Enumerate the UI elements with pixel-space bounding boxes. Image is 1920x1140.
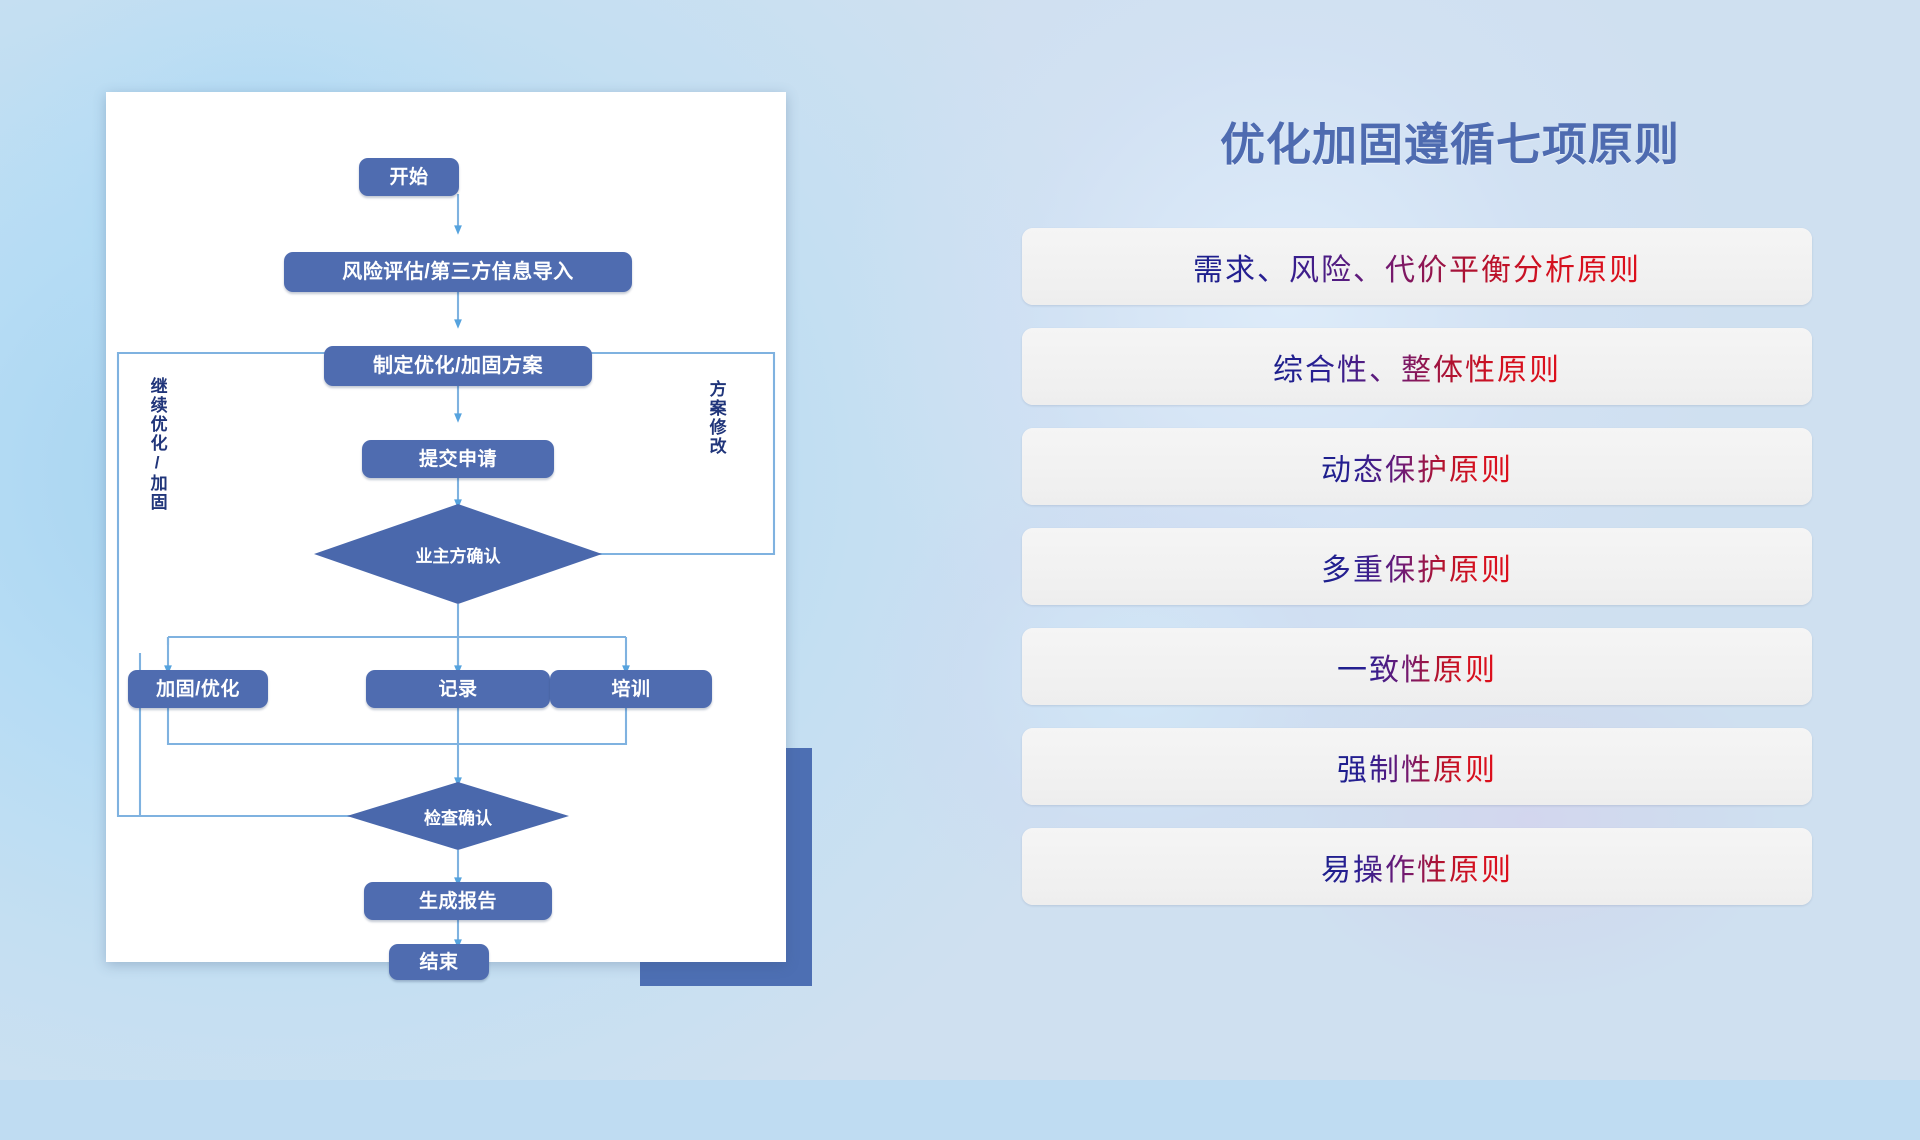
principles-title: 优化加固遵循七项原则	[1030, 108, 1870, 173]
principle-label: 易操作性原则	[1321, 845, 1513, 889]
principle-label: 需求、风险、代价平衡分析原则	[1193, 245, 1641, 289]
principle-label: 动态保护原则	[1321, 445, 1513, 489]
principle-label: 多重保护原则	[1321, 545, 1513, 589]
flowchart-panel: 开始 风险评估/第三方信息导入 制定优化/加固方案 提交申请 业主方确认 加固/…	[106, 92, 786, 962]
flow-node-plan[interactable]: 制定优化/加固方案	[324, 346, 592, 386]
flow-node-submit-application[interactable]: 提交申请	[362, 440, 554, 478]
principle-card-5[interactable]: 一致性原则	[1022, 628, 1812, 705]
principle-label: 强制性原则	[1337, 745, 1497, 789]
flow-edge-label-continue-optimize: 继续优化/加固	[148, 377, 166, 512]
principle-card-2[interactable]: 综合性、整体性原则	[1022, 328, 1812, 405]
flow-node-training[interactable]: 培训	[550, 670, 712, 708]
principles-list: 需求、风险、代价平衡分析原则 综合性、整体性原则 动态保护原则 多重保护原则 一…	[1022, 228, 1812, 928]
flow-node-start[interactable]: 开始	[359, 158, 459, 196]
principle-card-7[interactable]: 易操作性原则	[1022, 828, 1812, 905]
flow-node-end[interactable]: 结束	[389, 944, 489, 980]
flow-node-risk-assessment[interactable]: 风险评估/第三方信息导入	[284, 252, 632, 292]
flow-node-reinforce-optimize[interactable]: 加固/优化	[128, 670, 268, 708]
principle-label: 一致性原则	[1337, 645, 1497, 689]
principle-card-3[interactable]: 动态保护原则	[1022, 428, 1812, 505]
principle-card-6[interactable]: 强制性原则	[1022, 728, 1812, 805]
flow-node-record[interactable]: 记录	[366, 670, 550, 708]
principle-card-1[interactable]: 需求、风险、代价平衡分析原则	[1022, 228, 1812, 305]
flow-node-generate-report[interactable]: 生成报告	[364, 882, 552, 920]
principle-card-4[interactable]: 多重保护原则	[1022, 528, 1812, 605]
flow-edge-label-plan-revision: 方案修改	[707, 380, 725, 456]
principle-label: 综合性、整体性原则	[1273, 345, 1561, 389]
